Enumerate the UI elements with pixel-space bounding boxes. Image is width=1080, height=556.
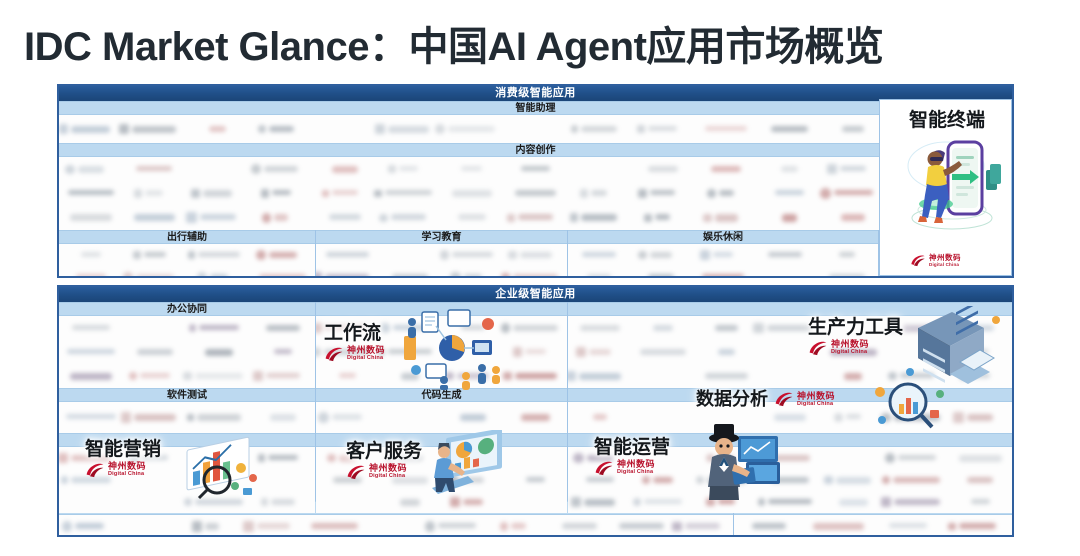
enterprise-label-office-collab: 办公协同 [59,302,315,316]
market-glance-infographic: IDC Market Glance：中国AI Agent应用市场概览 消费级智能… [0,0,1080,556]
enterprise-section-header: 企业级智能应用 [59,287,1012,302]
page-title: IDC Market Glance：中国AI Agent应用市场概览 [24,14,1064,72]
logo-strip-smart-operations [568,447,1012,513]
enterprise-label-middle-blank [316,302,567,316]
smart-terminal-illustration [886,126,1008,238]
brand-cn: 神州数码 [929,254,961,262]
consumer-section-panel: 消费级智能应用 智能助理 内容创作 出行辅助 学习教育 娱乐休闲 [57,84,1014,278]
logo-strip-office-collab [59,316,315,388]
smart-terminal-brand-logo: 神州数码 Digital China [910,252,961,267]
enterprise-right-column: 生产力工具 神州数码 Digital China [567,302,1012,501]
logo-strip-workflow [316,316,567,388]
consumer-split-row: 出行辅助 学习教育 娱乐休闲 [59,230,1012,278]
logo-strip-education [316,244,567,278]
logo-strip-data-analysis [568,402,1012,433]
logo-strip-app-generation [734,515,1012,537]
consumer-col-travel: 出行辅助 [59,230,315,278]
consumer-section-header: 消费级智能应用 [59,86,1012,101]
digital-china-wordmark: 神州数码 Digital China [929,254,961,267]
digital-china-logo: 神州数码 Digital China [910,254,961,267]
enterprise-label-right-blank-2 [568,388,1012,402]
enterprise-label-right-blank-3 [568,433,1012,447]
consumer-col-label-travel: 出行辅助 [59,230,315,244]
digital-china-swoosh-icon [910,254,926,267]
enterprise-left-column: 办公协同 软件测试 [59,302,315,501]
brand-en: Digital China [929,263,961,268]
enterprise-label-middle-blank-2 [316,433,567,447]
logo-strip-security [59,515,733,537]
consumer-col-education: 学习教育 [315,230,567,278]
consumer-col-entertainment: 娱乐休闲 [567,230,878,278]
enterprise-label-left-blank [59,433,315,447]
logo-strip-travel [59,244,315,278]
logo-strip-software-testing [59,402,315,433]
consumer-row-label-content-creation: 内容创作 [59,143,1012,157]
smart-terminal-panel: 智能终端 [879,99,1012,276]
consumer-col-label-entertainment: 娱乐休闲 [568,230,878,244]
enterprise-label-code-generation: 代码生成 [316,388,567,402]
logo-strip-entertainment [568,244,878,278]
enterprise-columns: 办公协同 软件测试 [59,302,1012,501]
consumer-col-label-education: 学习教育 [316,230,567,244]
logo-strip-smart-marketing [59,447,315,513]
consumer-row-label-smart-assistant: 智能助理 [59,101,1012,115]
logo-strip-code-generation [316,402,567,433]
enterprise-middle-column: 代码生成 [315,302,567,501]
logo-strip-content-creation [59,157,1012,230]
enterprise-section-panel: 企业级智能应用 办公协同 软件测试 [57,285,1014,537]
logo-strip-customer-service [316,447,567,513]
enterprise-label-right-blank [568,302,1012,316]
enterprise-label-software-testing: 软件测试 [59,388,315,402]
logo-strip-smart-assistant [59,115,1012,143]
logo-strip-productivity-tools [568,316,1012,388]
